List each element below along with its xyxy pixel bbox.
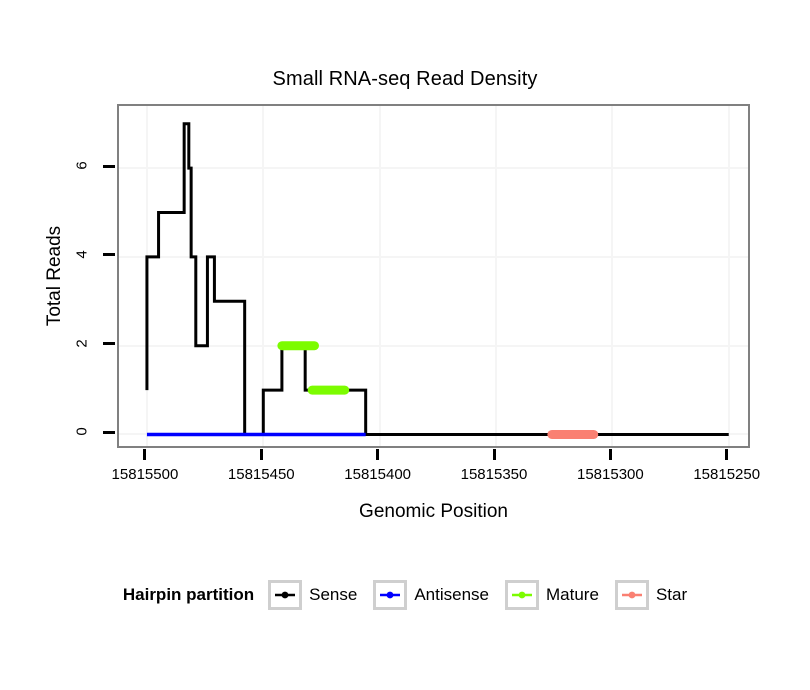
- series-line-sense: [147, 124, 729, 435]
- y-tick-label: 0: [74, 412, 91, 452]
- legend-label-star: Star: [656, 585, 687, 605]
- legend-label-mature: Mature: [546, 585, 599, 605]
- x-tick-label: 15815450: [201, 466, 321, 483]
- y-axis-title: Total Reads: [44, 104, 66, 448]
- y-tick-label: 4: [74, 234, 91, 274]
- y-tick-label: 6: [74, 146, 91, 186]
- x-tick-mark: [725, 449, 728, 460]
- x-tick-label: 15815500: [85, 466, 205, 483]
- y-tick-mark: [103, 431, 115, 434]
- legend-entry-sense[interactable]: Sense: [268, 580, 373, 610]
- data-series-layer: [119, 106, 750, 448]
- y-tick-mark: [103, 165, 115, 168]
- x-tick-mark: [493, 449, 496, 460]
- x-tick-label: 15815350: [434, 466, 554, 483]
- plot-area: [119, 106, 748, 446]
- legend-key-sense: [268, 580, 302, 610]
- chart-title: Small RNA-seq Read Density: [0, 68, 810, 91]
- x-tick-mark: [609, 449, 612, 460]
- plot-panel: [117, 104, 750, 448]
- x-tick-label: 15815300: [550, 466, 670, 483]
- legend-label-sense: Sense: [309, 585, 357, 605]
- legend-key-mature: [505, 580, 539, 610]
- legend-entry-mature[interactable]: Mature: [505, 580, 615, 610]
- x-tick-label: 15815250: [667, 466, 787, 483]
- y-tick-mark: [103, 342, 115, 345]
- legend-entries: SenseAntisenseMatureStar: [268, 580, 687, 610]
- legend-key-antisense: [373, 580, 407, 610]
- legend-title: Hairpin partition: [123, 585, 254, 605]
- chart-figure: Small RNA-seq Read Density Total Reads 0…: [0, 0, 810, 690]
- y-tick-label: 2: [74, 323, 91, 363]
- legend-key-star: [615, 580, 649, 610]
- x-tick-mark: [376, 449, 379, 460]
- chart-legend: Hairpin partition SenseAntisenseMatureSt…: [0, 580, 810, 610]
- x-tick-label: 15815400: [318, 466, 438, 483]
- x-tick-mark: [260, 449, 263, 460]
- legend-label-antisense: Antisense: [414, 585, 489, 605]
- x-axis-title: Genomic Position: [117, 501, 750, 523]
- x-tick-mark: [143, 449, 146, 460]
- y-tick-mark: [103, 253, 115, 256]
- legend-entry-antisense[interactable]: Antisense: [373, 580, 505, 610]
- legend-entry-star[interactable]: Star: [615, 580, 687, 610]
